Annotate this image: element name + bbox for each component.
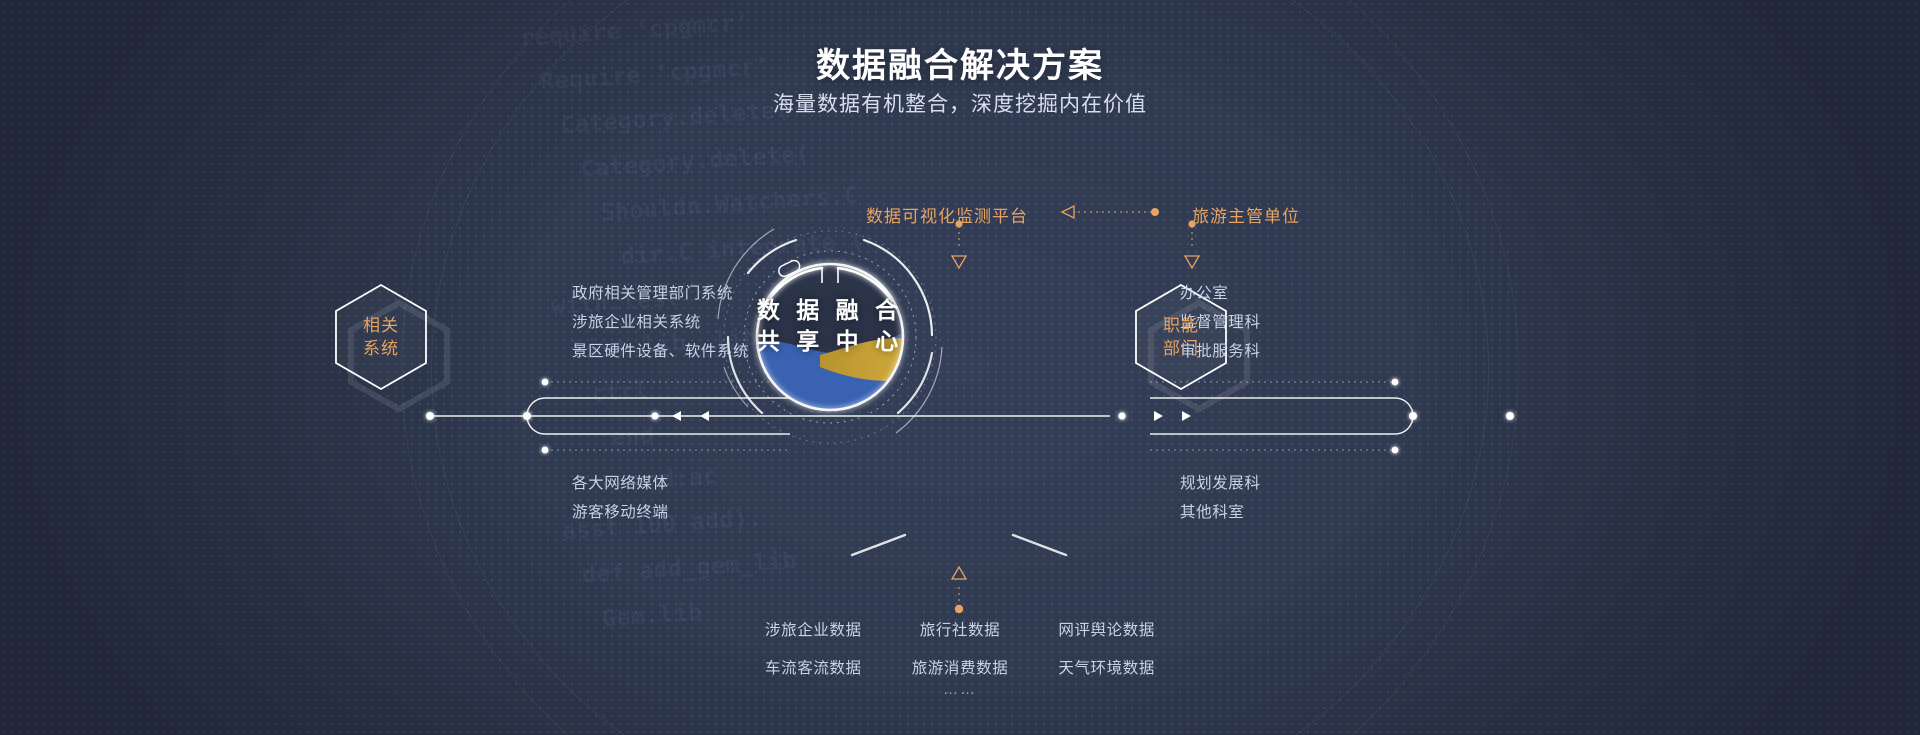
list-item: 各大网络媒体 <box>572 469 669 498</box>
data-source-item: 涉旅企业数据 <box>740 616 887 646</box>
core-label-line2: 共 享 中 心 <box>700 326 960 357</box>
core-label-line1: 数 据 融 合 <box>700 295 960 326</box>
data-sources-ellipsis: …… <box>740 681 1180 698</box>
data-source-item: 旅游消费数据 <box>887 654 1034 684</box>
hexagon-related-systems[interactable]: 相关 系统 <box>333 283 429 391</box>
hexagon-right-line2: 部门 <box>1163 337 1199 360</box>
diagram-stage: 数 据 融 合 共 享 中 心 相关 系统 职能 部门 数据可视化监测平台 旅游… <box>0 0 1920 735</box>
data-source-item: 车流客流数据 <box>740 654 887 684</box>
data-source-item: 网评舆论数据 <box>1033 616 1180 646</box>
hexagon-left-line2: 系统 <box>363 337 399 360</box>
hexagon-left-line1: 相关 <box>363 314 399 337</box>
core-label: 数 据 融 合 共 享 中 心 <box>700 295 960 357</box>
data-source-item: 天气环境数据 <box>1033 654 1180 684</box>
bottom-data-sources-grid: 涉旅企业数据 旅行社数据 网评舆论数据 车流客流数据 旅游消费数据 天气环境数据 <box>740 616 1180 684</box>
hexagon-right-label: 职能 部门 <box>1163 314 1199 360</box>
label-tourism-authority[interactable]: 旅游主管单位 <box>1192 202 1300 227</box>
list-item: 办公室 <box>1180 279 1261 308</box>
list-item: 规划发展科 <box>1180 469 1261 498</box>
left-systems-lower-list: 各大网络媒体 游客移动终端 <box>572 469 669 527</box>
data-fusion-core: 数 据 融 合 共 享 中 心 <box>700 207 960 467</box>
list-item: 其他科室 <box>1180 498 1261 527</box>
right-departments-lower-list: 规划发展科 其他科室 <box>1180 469 1261 527</box>
list-item: 游客移动终端 <box>572 498 669 527</box>
data-source-item: 旅行社数据 <box>887 616 1034 646</box>
hexagon-left-label: 相关 系统 <box>363 314 399 360</box>
label-visualization-platform[interactable]: 数据可视化监测平台 <box>866 202 1028 227</box>
hexagon-right-line1: 职能 <box>1163 314 1199 337</box>
